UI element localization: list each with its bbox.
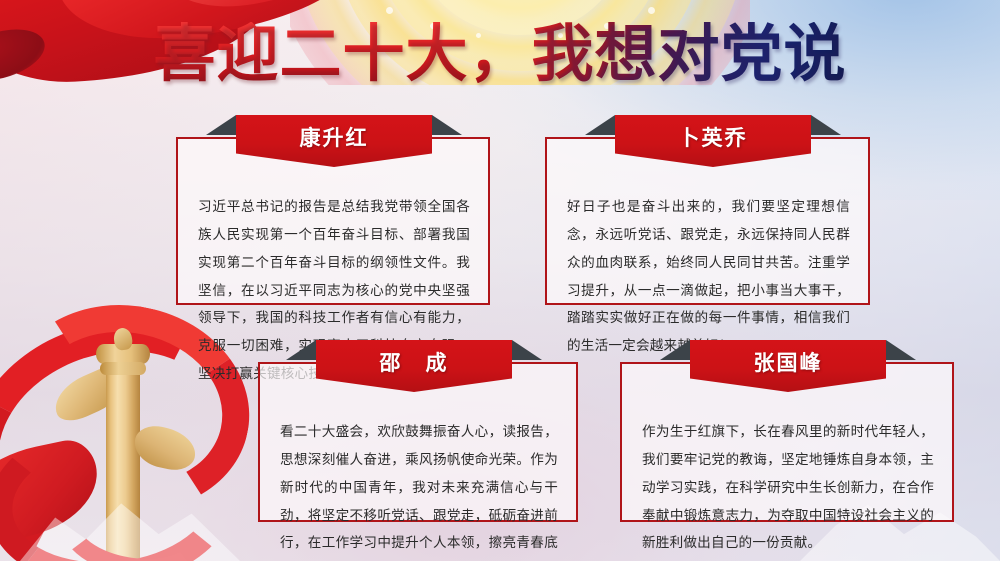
testimonial-card[interactable]: 康升红 习近平总书记的报告是总结我党带领全国各族人民实现第一个百年奋斗目标、部署… bbox=[176, 137, 490, 305]
card-body-text: 看二十大盛会，欢欣鼓舞振奋人心，读报告，思想深刻催人奋进，乘风扬帆使命光荣。作为… bbox=[280, 418, 558, 561]
card-author-name: 张国峰 bbox=[690, 340, 886, 392]
testimonial-card[interactable]: 张国峰 作为生于红旗下，长在春风里的新时代年轻人，我们要牢记党的教诲，坚定地锤炼… bbox=[620, 362, 954, 522]
card-author-name: 康升红 bbox=[236, 115, 432, 167]
page-title: 喜迎二十大，我想对党说 bbox=[0, 22, 1000, 87]
card-body-text: 作为生于红旗下，长在春风里的新时代年轻人，我们要牢记党的教诲，坚定地锤炼自身本领… bbox=[642, 418, 934, 557]
sparkle-dot bbox=[648, 7, 655, 14]
card-ribbon-header: 康升红 bbox=[236, 115, 432, 167]
card-author-name: 卜英乔 bbox=[615, 115, 811, 167]
card-ribbon-header: 张国峰 bbox=[690, 340, 886, 392]
testimonial-card[interactable]: 卜英乔 好日子也是奋斗出来的，我们要坚定理想信念，永远听党话、跟党走，永远保持同… bbox=[545, 137, 870, 305]
card-ribbon-header: 邵 成 bbox=[316, 340, 512, 392]
title-segment-red: 喜迎二十大， bbox=[153, 22, 531, 87]
card-body-text: 好日子也是奋斗出来的，我们要坚定理想信念，永远听党话、跟党走，永远保持同人民群众… bbox=[567, 193, 850, 360]
card-ribbon-header: 卜英乔 bbox=[615, 115, 811, 167]
testimonial-card[interactable]: 邵 成 看二十大盛会，欢欣鼓舞振奋人心，读报告，思想深刻催人奋进，乘风扬帆使命光… bbox=[258, 362, 578, 522]
card-author-name: 邵 成 bbox=[316, 340, 512, 392]
title-segment-blue: 我想对党说 bbox=[532, 22, 847, 87]
huabiao-cap-lower bbox=[100, 362, 146, 375]
poster-canvas: 喜迎二十大，我想对党说 康升红 习近平总书记的报告是总结我党带领全国各族人民实现… bbox=[0, 0, 1000, 561]
